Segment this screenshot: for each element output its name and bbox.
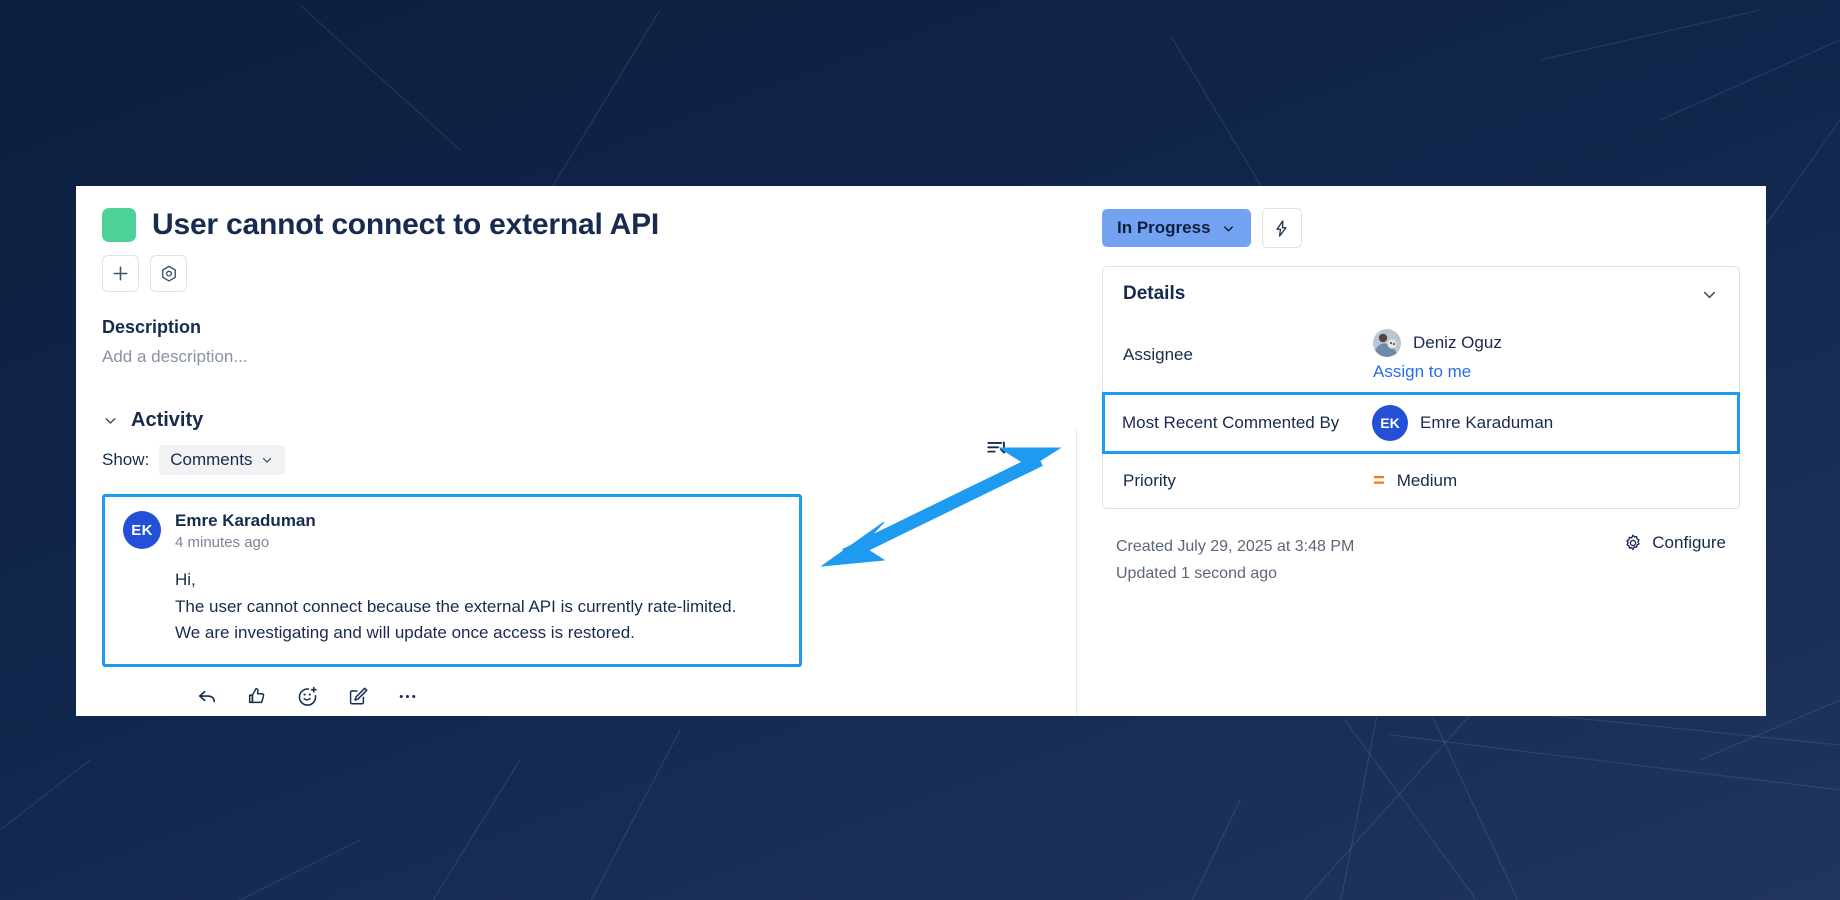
column-divider	[1076, 430, 1077, 716]
chevron-down-icon	[260, 453, 274, 467]
assignee-name: Deniz Oguz	[1413, 333, 1502, 353]
more-actions-button[interactable]	[394, 683, 420, 709]
comment-meta: Emre Karaduman 4 minutes ago	[175, 511, 316, 551]
status-badge[interactable]: In Progress	[1102, 209, 1251, 247]
thumbs-up-icon	[246, 685, 268, 707]
chevron-down-icon	[1221, 221, 1236, 236]
assign-to-me-link[interactable]: Assign to me	[1373, 362, 1502, 382]
field-label: Most Recent Commented By	[1122, 412, 1372, 435]
lightning-bolt-icon	[1272, 219, 1291, 238]
sort-descending-icon	[985, 437, 1011, 463]
created-timestamp: Created July 29, 2025 at 3:48 PM	[1116, 533, 1354, 560]
user-photo-icon	[1373, 329, 1401, 357]
field-label: Priority	[1123, 470, 1373, 493]
comment-line: Hi,	[175, 567, 781, 593]
issue-main-column: User cannot connect to external API Desc…	[76, 186, 1076, 716]
issue-title-row: User cannot connect to external API	[102, 208, 1050, 242]
assignee-value[interactable]: Deniz Oguz	[1373, 329, 1502, 357]
show-label: Show:	[102, 450, 149, 470]
field-value: = Medium	[1373, 471, 1457, 491]
comment-card[interactable]: EK Emre Karaduman 4 minutes ago Hi, The …	[102, 494, 802, 667]
reply-arrow-icon	[196, 685, 219, 708]
activity-filter-value: Comments	[170, 450, 252, 470]
green-square-icon	[102, 208, 136, 242]
activity-header[interactable]: Activity	[102, 409, 1050, 432]
field-assignee: Assignee D	[1103, 319, 1739, 392]
add-reaction-icon	[296, 685, 319, 708]
status-bar: In Progress	[1102, 208, 1740, 248]
field-value: EK Emre Karaduman	[1372, 405, 1553, 441]
configure-label: Configure	[1652, 533, 1726, 553]
activity-label: Activity	[131, 409, 203, 432]
gear-icon	[1623, 533, 1643, 553]
status-value: In Progress	[1117, 218, 1211, 238]
priority-medium-icon: =	[1373, 471, 1385, 491]
issue-toolbar	[102, 255, 1050, 292]
issue-detail-card: User cannot connect to external API Desc…	[76, 186, 1766, 716]
sort-comments-button[interactable]	[985, 437, 1011, 468]
plus-icon	[111, 264, 130, 283]
add-button[interactable]	[102, 255, 139, 292]
commenter-value[interactable]: EK Emre Karaduman	[1372, 405, 1553, 441]
edit-button[interactable]	[344, 683, 370, 709]
comment-timestamp: 4 minutes ago	[175, 534, 316, 551]
comment-header: EK Emre Karaduman 4 minutes ago	[123, 511, 781, 551]
reply-button[interactable]	[194, 683, 220, 709]
quick-actions-button[interactable]	[1262, 208, 1302, 248]
comment-line: The user cannot connect because the exte…	[175, 594, 781, 620]
comment-line: We are investigating and will update onc…	[175, 620, 781, 646]
activity-filter-select[interactable]: Comments	[159, 445, 285, 475]
page-title: User cannot connect to external API	[152, 208, 659, 242]
priority-label: Medium	[1397, 471, 1457, 491]
details-header[interactable]: Details	[1103, 267, 1739, 319]
priority-value[interactable]: = Medium	[1373, 471, 1457, 491]
activity-filter-row: Show: Comments	[102, 445, 1050, 475]
commenter-name: Emre Karaduman	[1420, 413, 1553, 433]
field-value: Deniz Oguz Assign to me	[1373, 329, 1502, 382]
issue-sidebar-column: In Progress Details Assignee	[1076, 186, 1766, 716]
comment-author: Emre Karaduman	[175, 511, 316, 531]
field-label: Assignee	[1123, 344, 1373, 367]
field-priority: Priority = Medium	[1103, 454, 1739, 508]
add-reaction-button[interactable]	[294, 683, 320, 709]
configure-button[interactable]: Configure	[1623, 533, 1726, 553]
issue-footer-meta: Created July 29, 2025 at 3:48 PM Updated…	[1102, 533, 1740, 587]
chevron-down-icon	[102, 412, 119, 429]
details-title: Details	[1123, 283, 1185, 305]
updated-timestamp: Updated 1 second ago	[1116, 560, 1354, 587]
avatar	[1373, 329, 1401, 357]
description-input[interactable]: Add a description...	[102, 347, 1050, 367]
like-button[interactable]	[244, 683, 270, 709]
edit-pencil-icon	[346, 685, 368, 707]
avatar: EK	[1372, 405, 1408, 441]
comment-action-bar	[194, 683, 1050, 709]
target-hexagon-icon	[159, 264, 179, 284]
issue-type-button[interactable]	[150, 255, 187, 292]
comment-body: Hi, The user cannot connect because the …	[175, 567, 781, 646]
more-ellipsis-icon	[396, 685, 419, 708]
avatar: EK	[123, 511, 161, 549]
field-most-recent-commented-by: Most Recent Commented By EK Emre Karadum…	[1102, 392, 1740, 454]
description-heading: Description	[102, 317, 1050, 338]
timestamps: Created July 29, 2025 at 3:48 PM Updated…	[1116, 533, 1354, 587]
chevron-down-icon[interactable]	[1700, 285, 1719, 304]
details-panel: Details Assignee	[1102, 266, 1740, 509]
